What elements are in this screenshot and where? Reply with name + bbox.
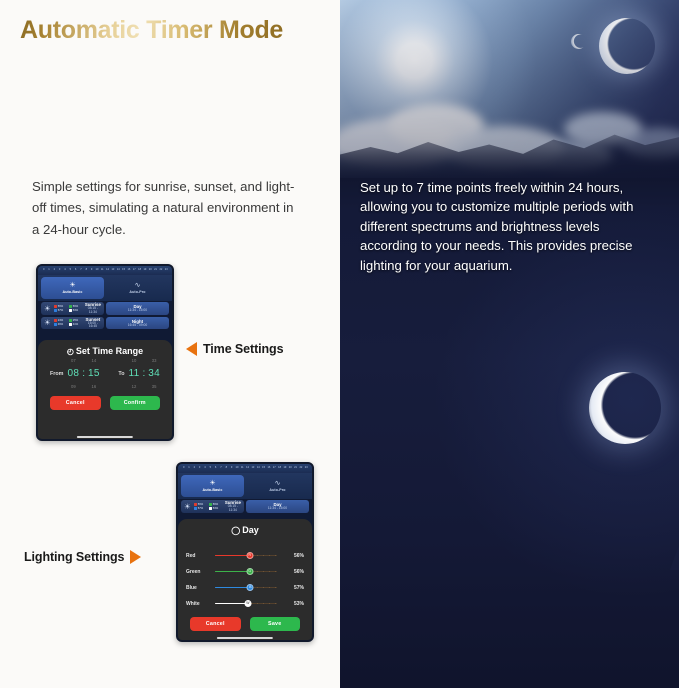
hour-tick-23[interactable]: 23: [304, 467, 309, 470]
from-hour-value[interactable]: 08: [67, 368, 79, 379]
to-hour-value[interactable]: 11: [129, 368, 140, 379]
slider-track[interactable]: B: [215, 583, 277, 592]
channel-value: 25%: [73, 319, 78, 322]
time-settings-callout: Time Settings: [186, 342, 283, 356]
mode-tab-auto-pro[interactable]: ∿Auto-Pro: [246, 475, 309, 497]
triangle-right-icon: [130, 550, 141, 564]
channel-value: 46%: [58, 323, 63, 326]
channel-chips: 24%25%46%41%: [54, 319, 82, 326]
slider-value: 56%: [282, 569, 304, 575]
channel-value: 56%: [73, 305, 78, 308]
mode-tab-label: Auto-Pro: [269, 488, 285, 492]
dialog-title-2: ◯ Day: [186, 525, 304, 535]
from-hour-next[interactable]: 09: [71, 384, 76, 389]
slider-track[interactable]: R: [215, 551, 277, 560]
slider-row-red[interactable]: RedR56%: [186, 551, 304, 560]
channel-chip: 56%: [54, 305, 67, 308]
sunset-icon: ☀: [44, 318, 51, 327]
slider-fill: [215, 555, 250, 557]
mode-tab-auto-pro[interactable]: ∿Auto-Pro: [106, 277, 169, 299]
channel-value: 56%: [198, 503, 203, 506]
channel-swatch: [54, 305, 57, 308]
clock-icon: ◴: [67, 347, 74, 356]
slider-label: White: [186, 601, 210, 607]
period-cell-day[interactable]: Day11:34 - 15:00: [246, 500, 309, 513]
period-row[interactable]: ☀24%25%46%41%Sunset15:00 - 16:45Night16:…: [38, 316, 172, 331]
period-cell-sunrise[interactable]: ☀56%56%57%53%Sunrise08:15 - 11:34: [41, 302, 104, 315]
period-row[interactable]: ☀56%56%57%53%Sunrise08:15 - 11:34Day11:3…: [38, 301, 172, 316]
wave-icon: ∿: [135, 282, 141, 289]
hour-ruler-2[interactable]: 01234567891011121314151617181920212223: [178, 464, 312, 473]
channel-chips: 56%56%57%53%: [194, 503, 222, 510]
to-wheel[interactable]: 10 11 12 : 33 34 35: [129, 358, 161, 389]
left-panel: Automatic Timer Mode Simple settings for…: [0, 0, 340, 688]
channel-chip: 53%: [209, 507, 222, 510]
channel-chip: 41%: [69, 323, 82, 326]
period-time: 08:15 - 11:34: [85, 307, 101, 315]
slider-value: 57%: [282, 585, 304, 591]
save-button[interactable]: Save: [250, 617, 301, 631]
channel-value: 53%: [213, 507, 218, 510]
channel-chip: 24%: [54, 319, 67, 322]
from-hour-column[interactable]: 07 08 09: [67, 358, 79, 389]
to-minute-column[interactable]: 33 34 35: [148, 358, 160, 389]
mode-tab-bar[interactable]: ☀Auto-Basic∿Auto-Pro: [38, 275, 172, 301]
channel-value: 56%: [213, 503, 218, 506]
from-hour-prev[interactable]: 07: [71, 358, 76, 363]
period-row[interactable]: ☀56%56%57%53%Sunrise08:15 - 11:34Day11:3…: [178, 499, 312, 514]
period-time: 16:45 - 09:00: [109, 324, 166, 328]
from-minute-column[interactable]: 14 15 16: [88, 358, 100, 389]
from-minute-next[interactable]: 16: [92, 384, 97, 389]
clock-icon-2: ◯: [231, 526, 240, 535]
slider-label: Red: [186, 553, 210, 559]
wave-icon: ∿: [275, 480, 281, 487]
channel-chip: 56%: [209, 503, 222, 506]
mode-tab-bar-2[interactable]: ☀Auto-Basic∿Auto-Pro: [178, 473, 312, 499]
to-minute-next[interactable]: 35: [152, 384, 157, 389]
slider-row-white[interactable]: WhiteW53%: [186, 599, 304, 608]
timeline-stage: Set up to 7 time points freely within 24…: [340, 0, 679, 688]
slider-knob[interactable]: R: [246, 552, 253, 559]
channel-chip: 25%: [69, 319, 82, 322]
from-colon: :: [82, 368, 85, 379]
channel-swatch: [54, 319, 57, 322]
period-time: 15:00 - 16:45: [85, 322, 101, 330]
to-minute-value[interactable]: 34: [148, 368, 160, 379]
from-wheel[interactable]: 07 08 09 : 14 15 16: [67, 358, 99, 389]
to-label: To: [118, 371, 124, 377]
channel-swatch: [69, 305, 72, 308]
from-group[interactable]: From 07 08 09 : 14 15 16: [50, 358, 100, 389]
channel-swatch: [209, 503, 212, 506]
channel-value: 57%: [198, 507, 203, 510]
sun-icon: ☀: [69, 282, 75, 289]
period-cell-night[interactable]: Night16:45 - 09:00: [106, 317, 169, 330]
slider-fill: [215, 603, 248, 605]
slider-knob[interactable]: G: [246, 568, 253, 575]
hour-ruler[interactable]: 01234567891011121314151617181920212223: [38, 266, 172, 275]
sunrise-icon: ☀: [184, 502, 191, 511]
lighting-settings-tablet[interactable]: 01234567891011121314151617181920212223 ☀…: [176, 462, 314, 642]
right-panel: Set up to 7 time points freely within 24…: [340, 0, 679, 688]
channel-swatch: [194, 503, 197, 506]
channel-swatch: [69, 309, 72, 312]
page-root: Automatic Timer Mode Simple settings for…: [0, 0, 679, 688]
channel-swatch: [69, 323, 72, 326]
channel-swatch: [54, 323, 57, 326]
channel-swatch: [209, 507, 212, 510]
to-hour-column[interactable]: 10 11 12: [129, 358, 140, 389]
sun-icon: ☀: [209, 480, 215, 487]
dialog-buttons-2[interactable]: Cancel Save: [186, 617, 304, 631]
channel-value: 24%: [58, 319, 63, 322]
channel-value: 41%: [73, 323, 78, 326]
channel-chip: 53%: [69, 309, 82, 312]
channel-value: 56%: [58, 305, 63, 308]
period-text: Night16:45 - 09:00: [109, 319, 166, 328]
dialog-title: ◴ Set Time Range: [46, 346, 164, 356]
cancel-button[interactable]: Cancel: [50, 396, 101, 410]
slider-row-blue[interactable]: BlueB57%: [186, 583, 304, 592]
channel-chips: 56%56%57%53%: [54, 305, 82, 312]
from-minute-value[interactable]: 15: [88, 368, 100, 379]
channel-chip: 46%: [54, 323, 67, 326]
to-hour-prev[interactable]: 10: [132, 358, 137, 363]
slider-fill: [215, 571, 250, 573]
lighting-settings-callout: Lighting Settings: [24, 550, 141, 564]
to-hour-next[interactable]: 12: [132, 384, 137, 389]
time-picker[interactable]: From 07 08 09 : 14 15 16: [46, 356, 164, 389]
lighting-settings-callout-label: Lighting Settings: [24, 550, 124, 564]
cancel-button-2[interactable]: Cancel: [190, 617, 241, 631]
period-text: Sunset15:00 - 16:45: [85, 317, 101, 330]
from-label: From: [50, 371, 63, 377]
slider-label: Blue: [186, 585, 210, 591]
period-time: 11:34 - 15:00: [249, 507, 306, 511]
channel-value: 53%: [73, 309, 78, 312]
period-list[interactable]: ☀56%56%57%53%Sunrise08:15 - 11:34Day11:3…: [38, 301, 172, 330]
dialog-title-text-2: Day: [242, 525, 259, 535]
to-colon: :: [142, 368, 145, 379]
home-indicator: [77, 436, 133, 438]
period-time: 11:34 - 15:00: [109, 309, 166, 313]
channel-chip: 56%: [194, 503, 207, 506]
mode-tab-auto-basic[interactable]: ☀Auto-Basic: [41, 277, 104, 299]
channel-chip: 57%: [54, 309, 67, 312]
slider-value: 53%: [282, 601, 304, 607]
night-hills: [670, 430, 679, 570]
period-text: Sunrise08:15 - 11:34: [225, 500, 241, 513]
channel-sliders[interactable]: RedR56%GreenG56%BlueB57%WhiteW53%: [186, 544, 304, 608]
period-time: 08:15 - 11:34: [225, 505, 241, 513]
period-cell-sunset[interactable]: ☀24%25%46%41%Sunset15:00 - 16:45: [41, 317, 104, 330]
intro-paragraph: Simple settings for sunrise, sunset, and…: [32, 176, 300, 240]
slider-track[interactable]: G: [215, 567, 277, 576]
night-crescent-moon-icon: [589, 372, 661, 444]
mode-tab-auto-basic[interactable]: ☀Auto-Basic: [181, 475, 244, 497]
period-text: Day11:34 - 15:00: [249, 502, 306, 511]
from-minute-prev[interactable]: 14: [92, 358, 97, 363]
period-cell-day[interactable]: Day11:34 - 15:00: [106, 302, 169, 315]
sunrise-icon: ☀: [44, 304, 51, 313]
dialog-buttons[interactable]: Cancel Confirm: [46, 396, 164, 410]
channel-swatch: [69, 319, 72, 322]
slider-knob[interactable]: B: [247, 584, 254, 591]
page-title: Automatic Timer Mode: [20, 16, 283, 45]
slider-label: Green: [186, 569, 210, 575]
to-minute-prev[interactable]: 33: [152, 358, 157, 363]
channel-chip: 56%: [69, 305, 82, 308]
day-lighting-dialog[interactable]: ◯ Day RedR56%GreenG56%BlueB57%WhiteW53% …: [178, 519, 312, 640]
period-cell-sunrise[interactable]: ☀56%56%57%53%Sunrise08:15 - 11:34: [181, 500, 244, 513]
slider-value: 56%: [282, 553, 304, 559]
period-text: Sunrise08:15 - 11:34: [85, 302, 101, 315]
mode-tab-label: Auto-Basic: [203, 488, 223, 492]
channel-value: 57%: [58, 309, 63, 312]
time-settings-callout-label: Time Settings: [203, 342, 283, 356]
time-settings-tablet[interactable]: 01234567891011121314151617181920212223 ☀…: [36, 264, 174, 441]
channel-swatch: [194, 507, 197, 510]
hour-tick-23[interactable]: 23: [164, 269, 169, 272]
set-time-range-dialog[interactable]: ◴ Set Time Range From 07 08 09 :: [38, 340, 172, 439]
period-list-2[interactable]: ☀56%56%57%53%Sunrise08:15 - 11:34Day11:3…: [178, 499, 312, 514]
home-indicator-2: [217, 637, 273, 639]
slider-row-green[interactable]: GreenG56%: [186, 567, 304, 576]
mode-tab-label: Auto-Pro: [129, 290, 145, 294]
to-group[interactable]: To 10 11 12 : 33 34 35: [118, 358, 160, 389]
dialog-title-text: Set Time Range: [76, 346, 143, 356]
mode-tab-label: Auto-Basic: [63, 290, 83, 294]
channel-chip: 57%: [194, 507, 207, 510]
slider-fill: [215, 587, 250, 589]
period-text: Day11:34 - 15:00: [109, 304, 166, 313]
slider-track[interactable]: W: [215, 599, 277, 608]
triangle-left-icon: [186, 342, 197, 356]
slider-knob[interactable]: W: [244, 600, 251, 607]
right-description: Set up to 7 time points freely within 24…: [360, 178, 660, 275]
confirm-button[interactable]: Confirm: [110, 396, 161, 410]
channel-swatch: [54, 309, 57, 312]
